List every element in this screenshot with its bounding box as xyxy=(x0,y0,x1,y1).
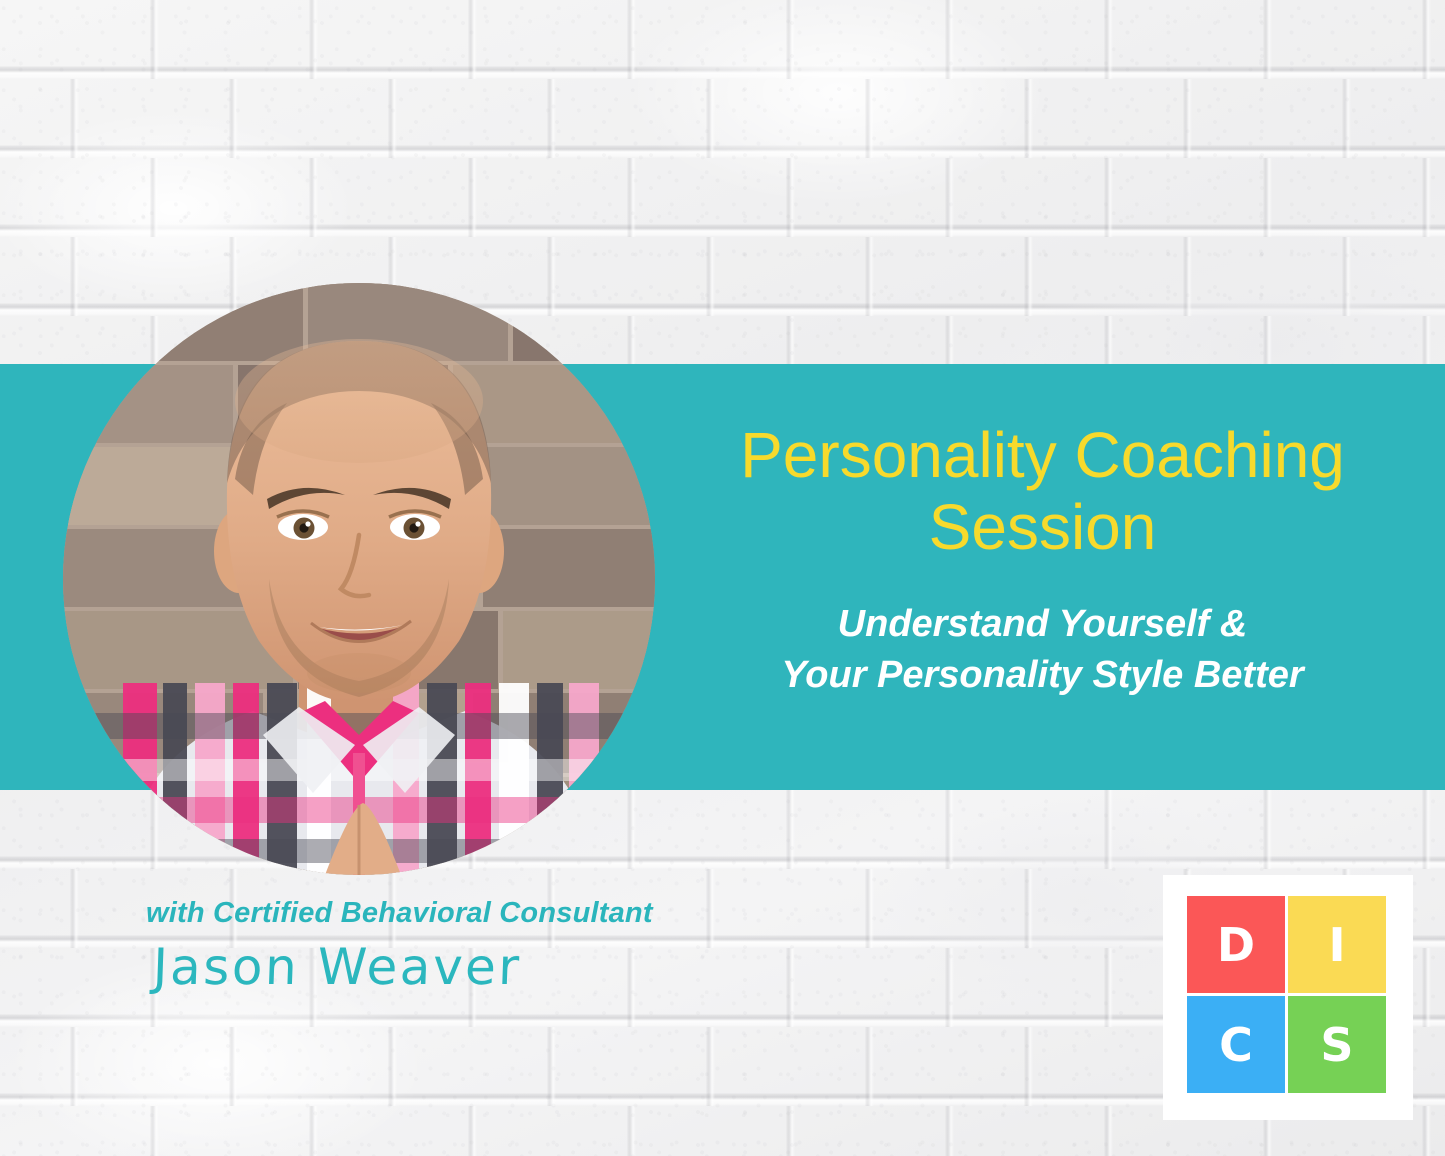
slide-subtitle-line-2: Your Personality Style Better xyxy=(680,650,1405,700)
portrait-illustration xyxy=(63,283,655,875)
presenter-credit: with Certified Behavioral Consultant Jas… xyxy=(146,897,786,996)
disc-letter-i: I xyxy=(1328,922,1345,968)
slide-title-line-1: Personality Coaching xyxy=(740,419,1345,491)
slide-canvas: Personality Coaching Session Understand … xyxy=(0,0,1445,1156)
disc-letter-s: S xyxy=(1320,1022,1353,1068)
slide-title-line-2: Session xyxy=(929,491,1157,563)
disc-logo: D I C S xyxy=(1163,875,1413,1120)
disc-logo-grid: D I C S xyxy=(1187,896,1386,1094)
slide-title: Personality Coaching Session xyxy=(680,420,1405,563)
slide-subtitle-line-1: Understand Yourself & xyxy=(680,599,1405,649)
disc-cell-conscientiousness: C xyxy=(1187,996,1285,1093)
banner-text-block: Personality Coaching Session Understand … xyxy=(680,420,1405,700)
presenter-role-label: with Certified Behavioral Consultant xyxy=(146,897,786,930)
disc-cell-dominance: D xyxy=(1187,896,1285,993)
presenter-name: Jason Weaver xyxy=(152,938,788,996)
disc-letter-c: C xyxy=(1219,1022,1253,1068)
disc-cell-steadiness: S xyxy=(1288,996,1386,1093)
disc-letter-d: D xyxy=(1217,922,1255,968)
slide-subtitle: Understand Yourself & Your Personality S… xyxy=(680,599,1405,699)
disc-cell-influence: I xyxy=(1288,896,1386,993)
presenter-portrait-photo xyxy=(63,283,655,875)
